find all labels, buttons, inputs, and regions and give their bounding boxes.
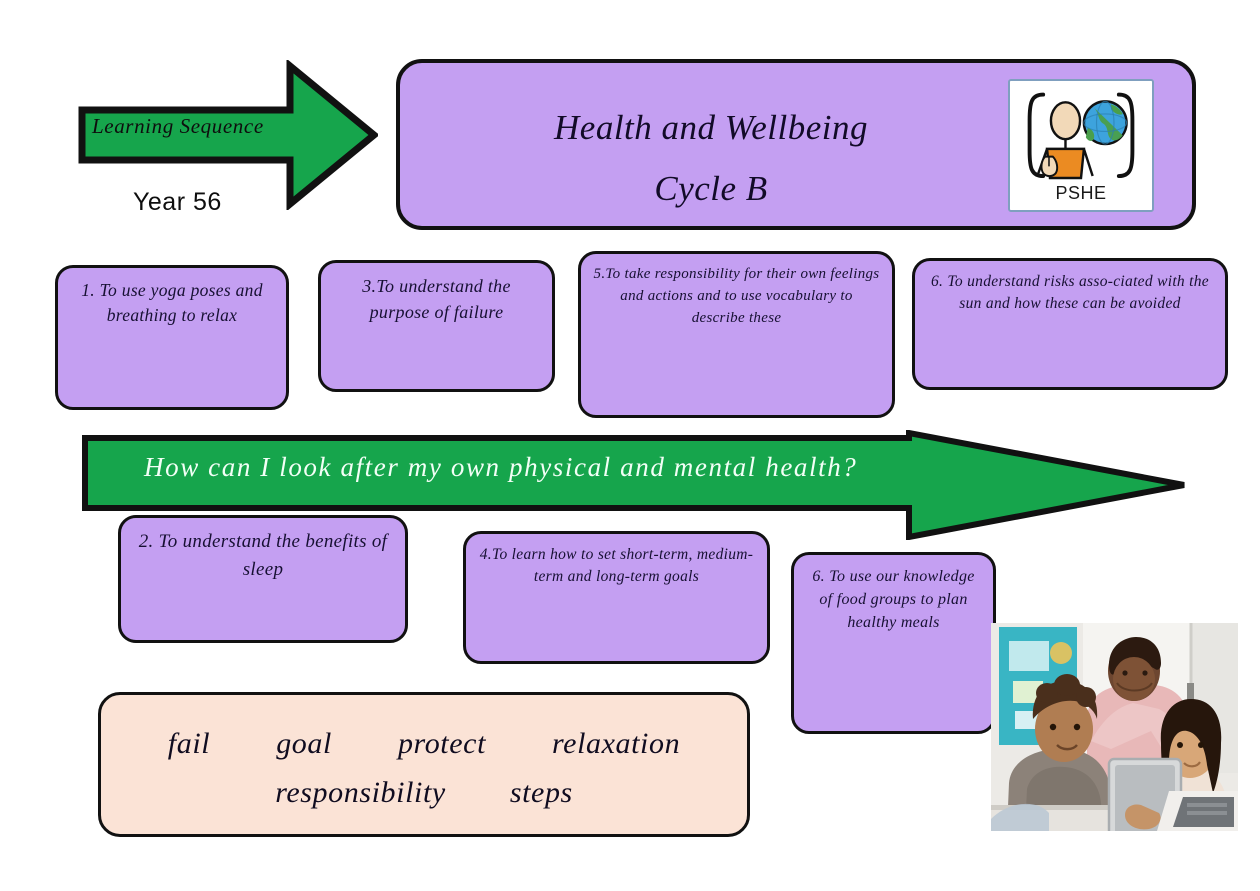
learning-sequence-label: Learning Sequence	[92, 114, 264, 139]
objective-card-5-text: 5.To take responsibility for their own f…	[593, 264, 880, 329]
objective-card-2: 2. To understand the benefits of sleep	[118, 515, 408, 643]
vocabulary-word-responsibility: responsibility	[275, 770, 446, 815]
objective-card-3-text: 3.To understand the purpose of failure	[333, 273, 540, 325]
objective-card-4-text: 4.To learn how to set short-term, medium…	[478, 544, 755, 589]
learning-sequence-poster: Learning Sequence Year 56 Health and Wel…	[0, 0, 1260, 891]
objective-card-6-sun-text: 6. To understand risks asso-ciated with …	[927, 271, 1213, 316]
year-label: Year 56	[133, 188, 222, 217]
objective-card-6-sun: 6. To understand risks asso-ciated with …	[912, 258, 1228, 390]
vocabulary-word-relaxation: relaxation	[552, 721, 680, 766]
objective-card-1-text: 1. To use yoga poses and breathing to re…	[70, 278, 274, 329]
classroom-photo	[991, 623, 1238, 831]
objective-card-4: 4.To learn how to set short-term, medium…	[463, 531, 770, 664]
vocabulary-word-goal: goal	[276, 721, 332, 766]
title-line-2: Cycle B	[440, 158, 982, 219]
vocabulary-row-2: responsibility steps	[135, 770, 713, 815]
vocabulary-word-steps: steps	[510, 770, 573, 815]
vocabulary-row-1: fail goal protect relaxation	[135, 721, 713, 766]
title-block: Health and Wellbeing Cycle B	[440, 97, 982, 220]
title-banner: Health and Wellbeing Cycle B	[396, 59, 1196, 230]
objective-card-6-food: 6. To use our knowledge of food groups t…	[791, 552, 996, 734]
objective-card-5: 5.To take responsibility for their own f…	[578, 251, 895, 418]
title-line-1: Health and Wellbeing	[440, 97, 982, 158]
vocabulary-box: fail goal protect relaxation responsibil…	[98, 692, 750, 837]
objective-card-3: 3.To understand the purpose of failure	[318, 260, 555, 392]
objective-card-1: 1. To use yoga poses and breathing to re…	[55, 265, 289, 410]
classroom-photo-image	[991, 623, 1238, 831]
pshe-badge: PSHE	[1008, 79, 1154, 212]
vocabulary-word-fail: fail	[168, 721, 210, 766]
pshe-badge-label: PSHE	[1010, 183, 1152, 204]
vocabulary-word-protect: protect	[398, 721, 486, 766]
enquiry-question-text: How can I look after my own physical and…	[144, 452, 857, 483]
objective-card-2-text: 2. To understand the benefits of sleep	[133, 528, 393, 583]
objective-card-6-food-text: 6. To use our knowledge of food groups t…	[806, 565, 981, 635]
